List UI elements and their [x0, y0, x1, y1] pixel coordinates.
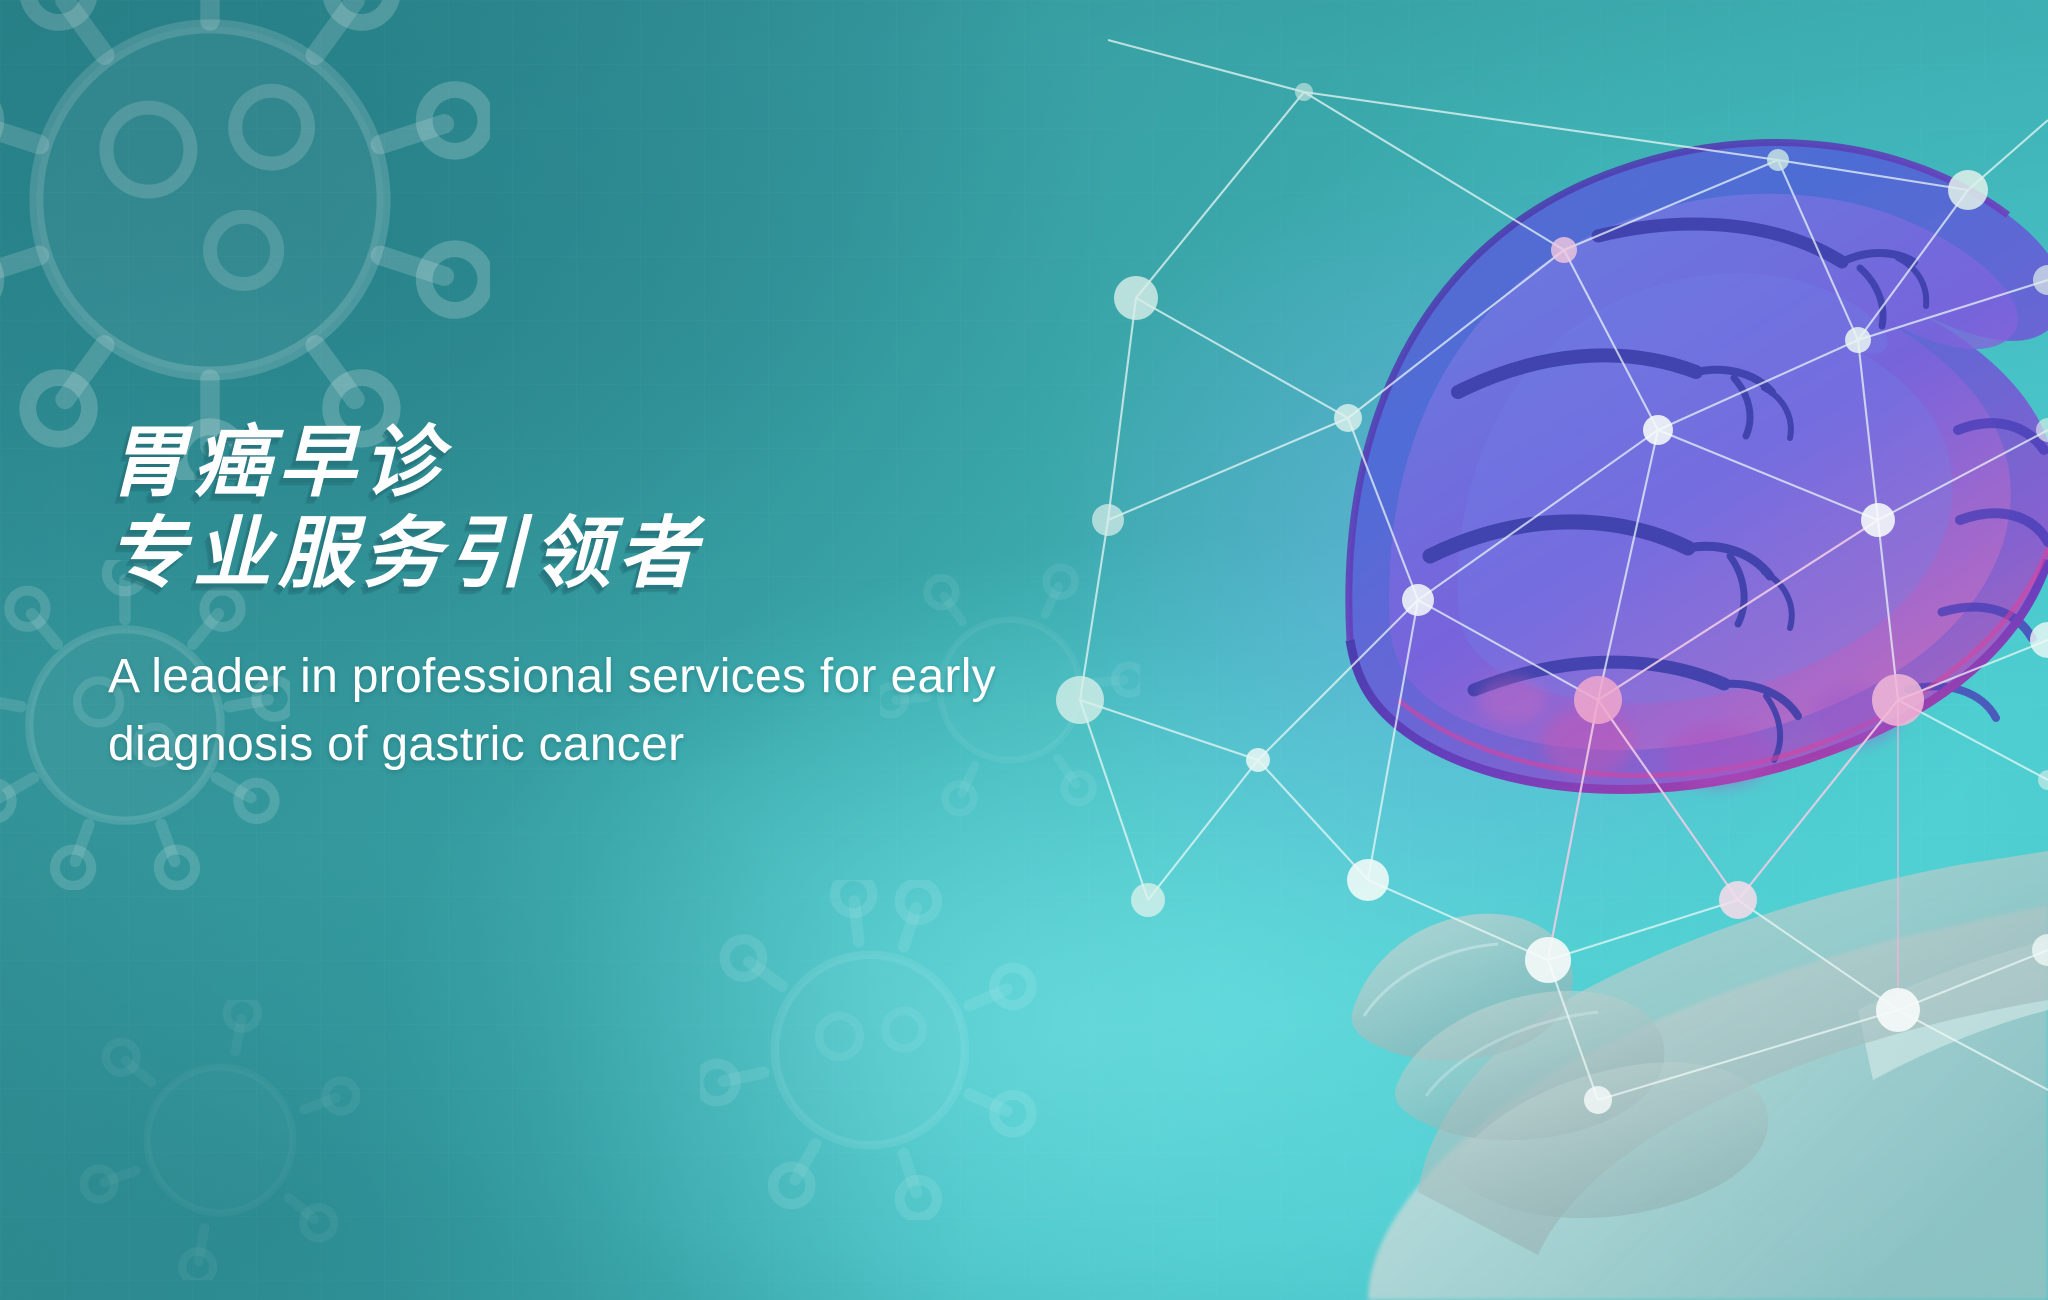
banner-root: 胃癌早诊 专业服务引领者 A leader in professional se…: [0, 0, 2048, 1300]
subtitle: A leader in professional services for ea…: [108, 643, 1118, 779]
headline-line-1: 胃癌早诊: [108, 418, 448, 508]
subtitle-line-1: A leader in professional services for ea…: [108, 643, 1118, 711]
copy-block: 胃癌早诊 专业服务引领者 A leader in professional se…: [108, 418, 1118, 779]
headline-line-2: 专业服务引领者: [108, 509, 1118, 600]
page-title: 胃癌早诊 专业服务引领者: [108, 418, 1118, 601]
subtitle-line-2: diagnosis of gastric cancer: [108, 711, 1118, 779]
